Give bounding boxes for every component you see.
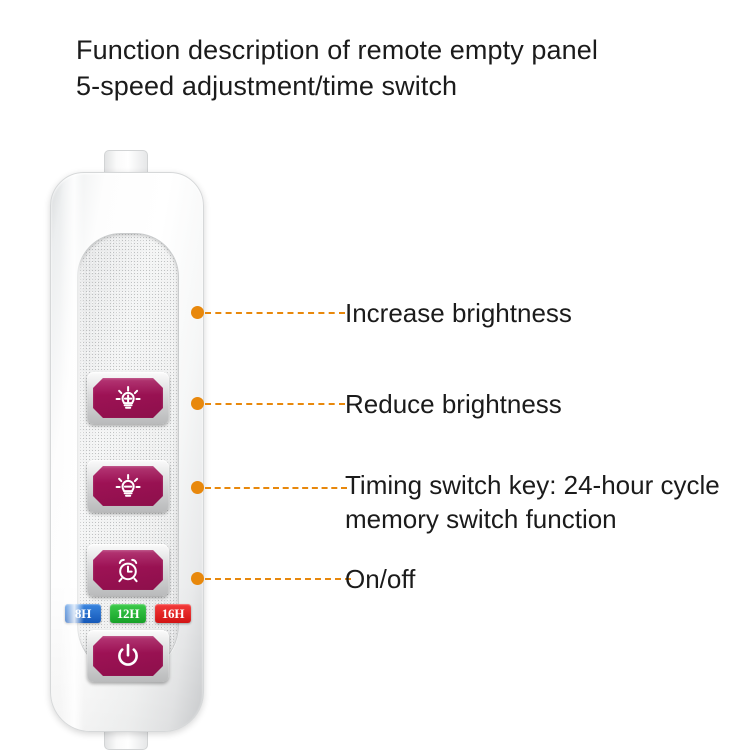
callout-dot-icon <box>191 306 204 319</box>
callout-increase-brightness <box>191 306 345 319</box>
led-16h: 16H <box>155 604 191 623</box>
callout-dot-icon <box>191 481 204 494</box>
callout-label-increase-brightness: Increase brightness <box>345 296 572 330</box>
callout-leader-line <box>205 312 345 314</box>
callout-dot-icon <box>191 572 204 585</box>
button-cap <box>93 550 163 590</box>
button-cap <box>93 466 163 506</box>
callout-label-reduce-brightness: Reduce brightness <box>345 387 562 421</box>
button-timer-switch[interactable] <box>87 544 169 596</box>
callout-dot-icon <box>191 397 204 410</box>
callout-leader-line <box>205 487 347 489</box>
bulb-minus-icon <box>112 470 144 502</box>
page-title-line-1: Function description of remote empty pan… <box>76 32 716 68</box>
button-cap <box>93 378 163 418</box>
led-16h-label: 16H <box>162 606 185 622</box>
callout-timer-switch <box>191 481 347 494</box>
button-cap <box>93 636 163 676</box>
led-8h: 8H <box>65 604 101 623</box>
led-indicator-group: 8H 12H 16H <box>65 604 191 623</box>
callout-power <box>191 572 351 585</box>
controller-shell: 8H 12H 16H <box>50 172 204 732</box>
callout-leader-line <box>205 403 345 405</box>
led-8h-label: 8H <box>75 606 91 622</box>
control-panel: 8H 12H 16H <box>77 233 179 675</box>
led-12h: 12H <box>110 604 146 623</box>
remote-controller: 8H 12H 16H <box>36 150 216 750</box>
page-title-block: Function description of remote empty pan… <box>76 32 716 104</box>
bulb-plus-icon <box>112 382 144 414</box>
callout-label-timer-switch: Timing switch key: 24-hour cycle memory … <box>345 468 735 536</box>
button-reduce-brightness[interactable] <box>87 460 169 512</box>
page-title-line-2: 5-speed adjustment/time switch <box>76 68 716 104</box>
power-icon <box>112 640 144 672</box>
led-12h-label: 12H <box>117 606 140 622</box>
callout-label-power: On/off <box>345 562 415 596</box>
alarm-clock-icon <box>112 554 144 586</box>
callout-leader-line <box>205 578 351 580</box>
button-power[interactable] <box>87 630 169 682</box>
callout-reduce-brightness <box>191 397 345 410</box>
button-increase-brightness[interactable] <box>87 372 169 424</box>
